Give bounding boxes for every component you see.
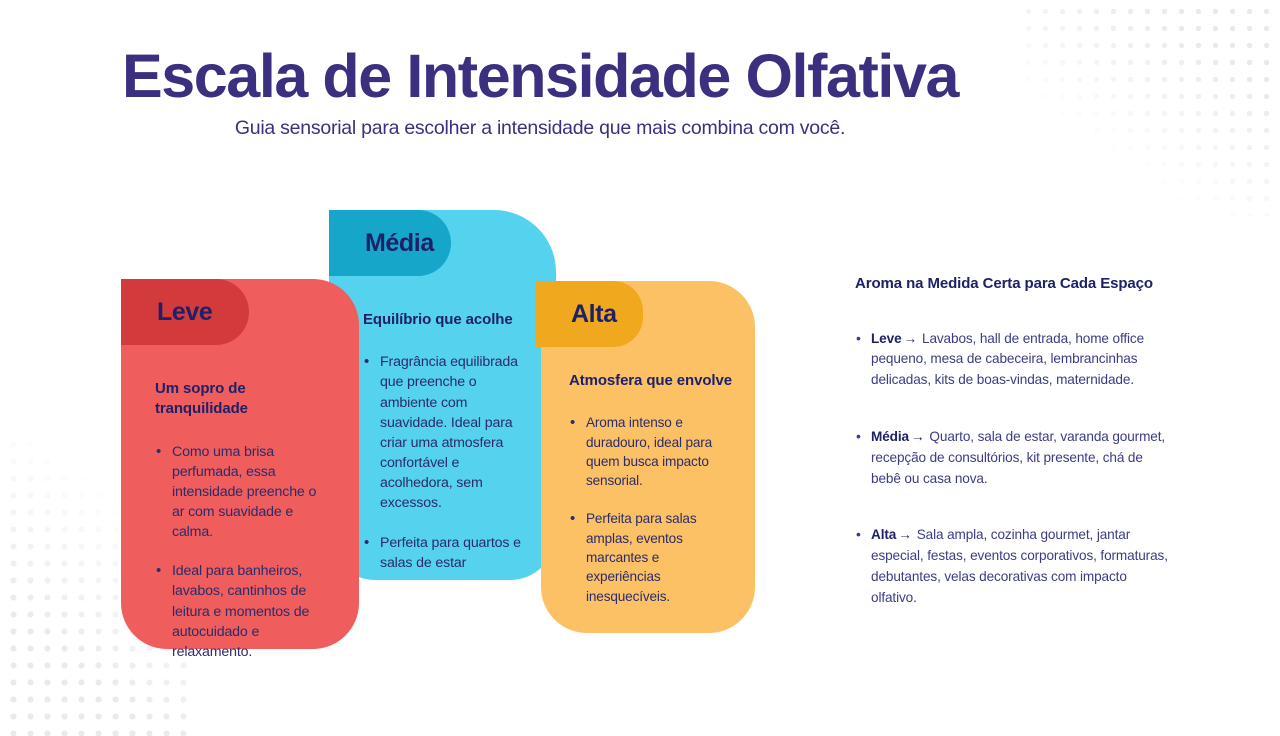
card-bullet-list-alta: Aroma intenso e duradouro, ideal para qu… <box>569 413 737 606</box>
card-tab-label-media: Média <box>365 229 434 258</box>
list-item: Fragrância equilibrada que preenche o am… <box>363 352 534 513</box>
arrow-right-icon: → <box>896 527 916 542</box>
usage-guide-title: Aroma na Medida Certa para Cada Espaço <box>855 274 1171 295</box>
usage-guide-panel: Aroma na Medida Certa para Cada Espaço L… <box>855 274 1171 609</box>
infographic-canvas: Escala de Intensidade Olfativa Guia sens… <box>0 0 1280 720</box>
card-tab-leve[interactable]: Leve <box>121 279 249 345</box>
card-content-leve: Um sopro de tranquilidade Como uma brisa… <box>121 379 359 662</box>
card-tab-alta[interactable]: Alta <box>535 281 643 347</box>
intensity-card-leve[interactable]: Leve Um sopro de tranquilidade Como uma … <box>121 279 359 649</box>
list-item: Alta→Sala ampla, cozinha gourmet, jantar… <box>855 525 1171 608</box>
card-tab-label-leve: Leve <box>157 298 212 327</box>
card-bullet-list-leve: Como uma brisa perfumada, essa intensida… <box>155 442 329 663</box>
card-content-alta: Atmosfera que envolve Aroma intenso e du… <box>541 371 755 606</box>
list-item: Ideal para banheiros, lavabos, cantinhos… <box>155 561 329 662</box>
card-bullet-list-media: Fragrância equilibrada que preenche o am… <box>363 352 534 573</box>
usage-item-label: Alta <box>871 527 896 542</box>
arrow-right-icon: → <box>909 429 929 444</box>
header: Escala de Intensidade Olfativa Guia sens… <box>0 46 1080 140</box>
arrow-right-icon: → <box>902 331 922 346</box>
card-tab-label-alta: Alta <box>571 300 617 329</box>
list-item: Leve→Lavabos, hall de entrada, home offi… <box>855 329 1171 391</box>
card-heading-leve: Um sopro de tranquilidade <box>155 379 329 420</box>
list-item: Perfeita para salas amplas, eventos marc… <box>569 509 737 605</box>
page-title: Escala de Intensidade Olfativa <box>0 46 1080 107</box>
list-item: Média→Quarto, sala de estar, varanda gou… <box>855 427 1171 489</box>
card-heading-media: Equilíbrio que acolhe <box>363 310 534 330</box>
usage-item-label: Média <box>871 429 909 444</box>
usage-guide-list: Leve→Lavabos, hall de entrada, home offi… <box>855 329 1171 609</box>
list-item: Aroma intenso e duradouro, ideal para qu… <box>569 413 737 490</box>
card-heading-alta: Atmosfera que envolve <box>569 371 737 391</box>
usage-item-label: Leve <box>871 331 902 346</box>
list-item: Perfeita para quartos e salas de estar <box>363 533 534 573</box>
intensity-card-alta[interactable]: Alta Atmosfera que envolve Aroma intenso… <box>541 281 755 633</box>
list-item: Como uma brisa perfumada, essa intensida… <box>155 442 329 543</box>
card-content-media: Equilíbrio que acolhe Fragrância equilib… <box>329 310 556 573</box>
card-tab-media[interactable]: Média <box>329 210 451 276</box>
intensity-card-media[interactable]: Média Equilíbrio que acolhe Fragrância e… <box>329 210 556 580</box>
page-subtitle: Guia sensorial para escolher a intensida… <box>0 117 1080 140</box>
